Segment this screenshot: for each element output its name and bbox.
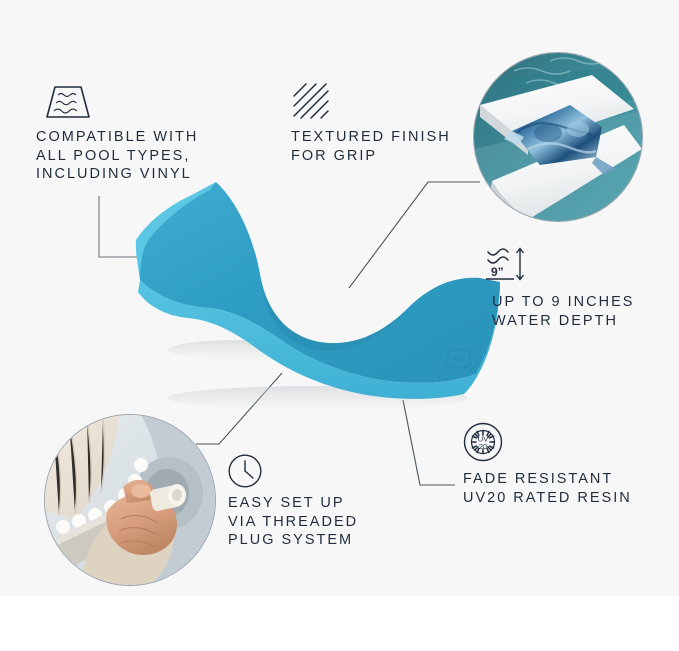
product-feature-infographic: 9” [0,0,679,651]
product-lounger-illustration [108,170,508,420]
feature-label-pool-compatibility: COMPATIBLE WITH ALL POOL TYPES, INCLUDIN… [36,128,198,184]
feature-label-textured-finish: TEXTURED FINISH FOR GRIP [291,128,451,165]
clock-icon [228,454,262,488]
diagonal-hatch-texture-icon [292,82,330,120]
photo-pillow-on-lounger [473,52,643,222]
feature-label-easy-setup: EASY SET UP VIA THREADED PLUG SYSTEM [228,494,358,550]
depth-value-label: 9” [491,265,504,279]
water-depth-measure-icon: 9” [484,245,540,287]
feature-label-fade-resistance: FADE RESISTANT UV20 RATED RESIN [463,470,632,507]
footer-bar: LEDGE ® [0,596,679,651]
uv-label-bottom: 20 [479,442,487,451]
uv20-sun-icon: UV 20 [463,422,503,462]
pool-cross-section-icon [43,82,93,122]
photo-threaded-plug-install [44,414,216,586]
infographic-canvas: 9” [0,0,679,596]
feature-label-water-depth: UP TO 9 INCHES WATER DEPTH [492,293,634,330]
